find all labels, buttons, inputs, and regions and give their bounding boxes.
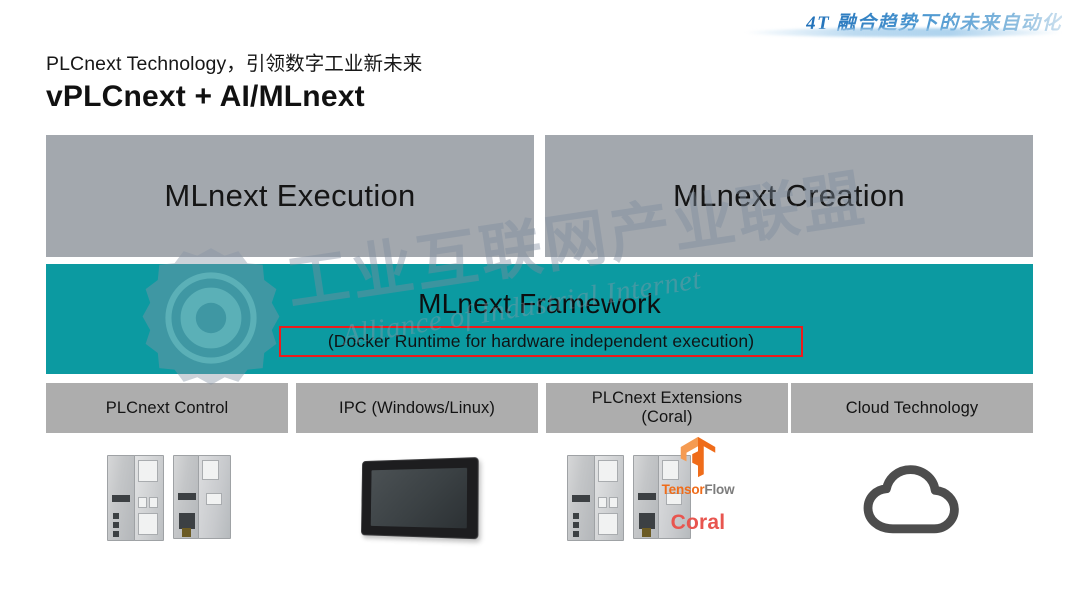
hardware-cell-plcnext-extensions: TensorFlow Coral bbox=[546, 438, 788, 558]
platform-box-label: PLCnext Control bbox=[106, 399, 229, 418]
layer-box-mlnext-execution[interactable]: MLnext Execution bbox=[46, 135, 534, 257]
platform-box-label: PLCnext Extensions (Coral) bbox=[592, 389, 742, 427]
platform-box-label: IPC (Windows/Linux) bbox=[339, 399, 495, 418]
platform-box-plcnext-control[interactable]: PLCnext Control bbox=[46, 383, 288, 433]
docker-runtime-callout: (Docker Runtime for hardware independent… bbox=[279, 326, 803, 357]
top-layer-row: MLnext Execution MLnext Creation bbox=[46, 135, 1033, 257]
hmi-screen bbox=[371, 468, 467, 529]
layer-box-label: MLnext Execution bbox=[164, 178, 415, 214]
hardware-illustration-row: TensorFlow Coral bbox=[46, 438, 1033, 558]
platform-box-plcnext-extensions[interactable]: PLCnext Extensions (Coral) bbox=[546, 383, 788, 433]
platform-layer-row: PLCnext Control IPC (Windows/Linux) PLCn… bbox=[46, 383, 1033, 433]
layer-box-mlnext-creation[interactable]: MLnext Creation bbox=[545, 135, 1033, 257]
coral-wordmark: Coral bbox=[651, 511, 745, 535]
framework-title: MLnext Framework bbox=[46, 288, 1033, 320]
hardware-cell-ipc bbox=[296, 438, 538, 558]
decorative-banner: 4T 融合趋势下的未来自动化 bbox=[742, 4, 1062, 38]
tensorflow-wordmark-part1: Tensor bbox=[662, 482, 705, 497]
page-title: vPLCnext + AI/MLnext bbox=[46, 80, 365, 114]
plc-controller-icon bbox=[101, 455, 233, 541]
cloud-icon bbox=[860, 460, 964, 536]
platform-box-cloud-technology[interactable]: Cloud Technology bbox=[791, 383, 1033, 433]
banner-swoosh-decoration bbox=[744, 28, 1062, 37]
mlnext-framework-band[interactable]: MLnext Framework (Docker Runtime for har… bbox=[46, 264, 1033, 374]
tensorflow-wordmark-part2: Flow bbox=[704, 482, 734, 497]
tensorflow-coral-logos: TensorFlow Coral bbox=[651, 434, 745, 552]
slide-root: 4T 融合趋势下的未来自动化 PLCnext Technology，引领数字工业… bbox=[0, 0, 1080, 608]
hardware-cell-cloud bbox=[791, 438, 1033, 558]
slide-subtitle: PLCnext Technology，引领数字工业新未来 bbox=[46, 47, 422, 76]
hmi-panel-icon bbox=[361, 457, 479, 539]
platform-box-label-line2: (Coral) bbox=[641, 408, 692, 426]
layer-box-label: MLnext Creation bbox=[673, 178, 905, 214]
tensorflow-wordmark: TensorFlow bbox=[651, 482, 745, 497]
platform-box-label-line1: PLCnext Extensions bbox=[592, 389, 742, 407]
platform-box-ipc[interactable]: IPC (Windows/Linux) bbox=[296, 383, 538, 433]
tensorflow-icon bbox=[675, 434, 721, 480]
docker-runtime-label: (Docker Runtime for hardware independent… bbox=[328, 331, 754, 352]
platform-box-label: Cloud Technology bbox=[846, 399, 978, 418]
hardware-cell-plcnext-control bbox=[46, 438, 288, 558]
